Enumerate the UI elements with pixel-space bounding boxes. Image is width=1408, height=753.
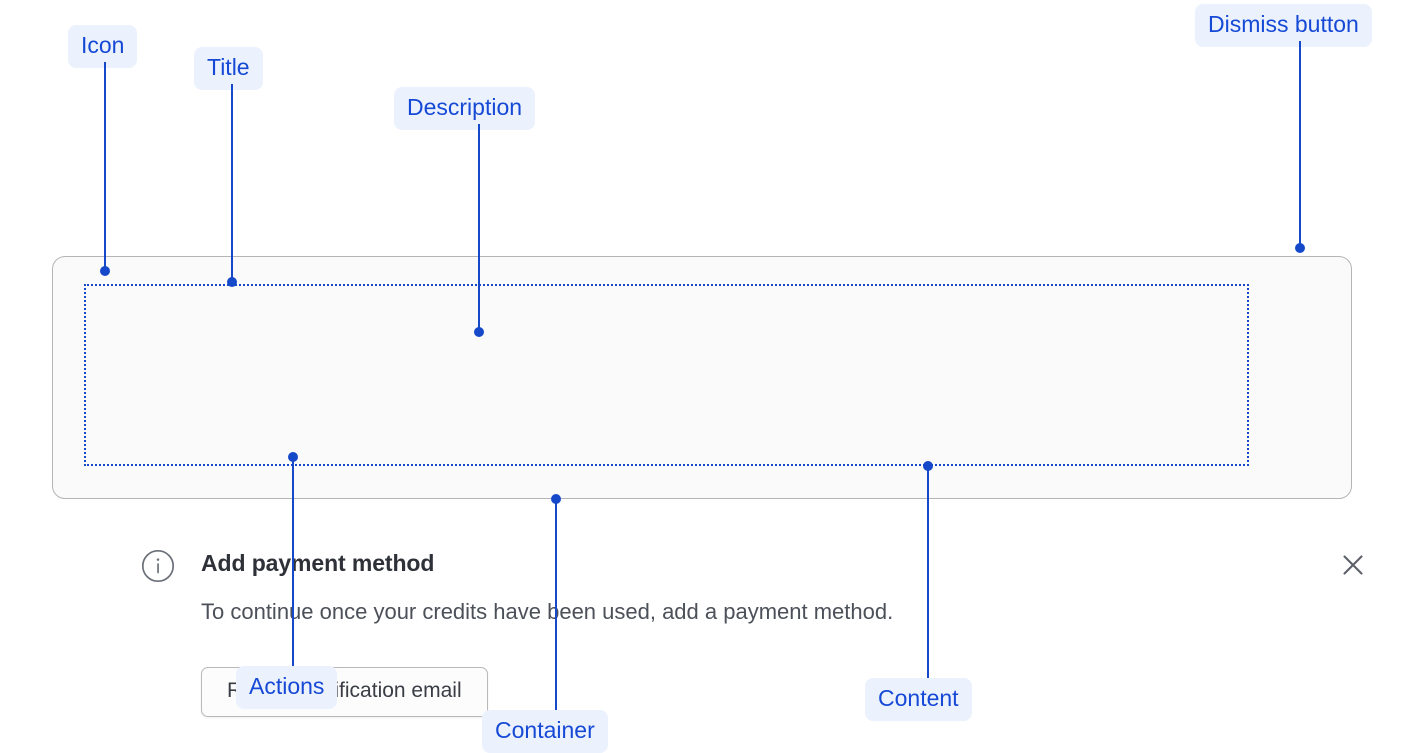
leader-line-dismiss-button bbox=[1299, 41, 1301, 248]
info-circle-icon bbox=[141, 549, 175, 583]
leader-dot-description bbox=[474, 327, 484, 337]
leader-dot-title bbox=[227, 277, 237, 287]
leader-line-description bbox=[478, 124, 480, 332]
dismiss-button[interactable] bbox=[1335, 547, 1371, 583]
leader-line-icon bbox=[104, 62, 106, 270]
annotation-label-actions: Actions bbox=[236, 666, 337, 709]
annotation-label-title: Title bbox=[194, 47, 263, 90]
leader-line-title bbox=[231, 84, 233, 280]
leader-line-container bbox=[555, 503, 557, 710]
alert-description: To continue once your credits have been … bbox=[201, 599, 893, 625]
annotation-label-dismiss-button: Dismiss button bbox=[1195, 4, 1372, 47]
leader-dot-actions bbox=[288, 452, 298, 462]
annotation-label-content: Content bbox=[865, 678, 972, 721]
annotation-label-icon: Icon bbox=[68, 25, 137, 68]
annotation-label-container: Container bbox=[482, 710, 608, 753]
leader-dot-icon bbox=[100, 266, 110, 276]
leader-dot-content bbox=[923, 461, 933, 471]
leader-dot-container bbox=[551, 494, 561, 504]
close-x-icon bbox=[1340, 552, 1366, 578]
annotation-label-description: Description bbox=[394, 87, 535, 130]
content-region-outline bbox=[84, 284, 1249, 466]
alert-title: Add payment method bbox=[201, 550, 434, 577]
leader-line-actions bbox=[292, 461, 294, 666]
leader-line-content bbox=[927, 470, 929, 678]
leader-dot-dismiss-button bbox=[1295, 243, 1305, 253]
